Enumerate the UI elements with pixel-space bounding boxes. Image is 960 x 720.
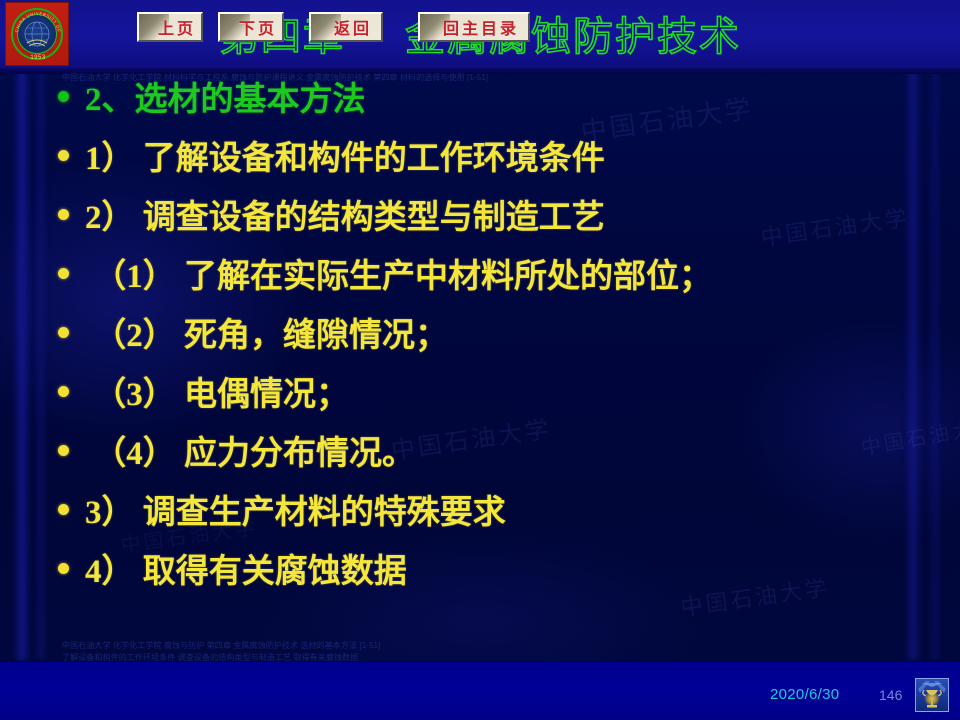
list-item-label: 4） 取得有关腐蚀数据 bbox=[85, 556, 407, 589]
list-item: （2） 死角，缝隙情况； bbox=[0, 320, 960, 379]
back-button-label: 返回 bbox=[320, 15, 372, 39]
list-item-label: （1） 了解在实际生产中材料所处的部位； bbox=[85, 261, 712, 294]
bullet-icon bbox=[58, 150, 69, 161]
trophy-icon bbox=[916, 679, 948, 711]
university-logo: CHINA UNIVERSITY OF PETROLEUM 1953 bbox=[5, 2, 69, 66]
bullet-icon bbox=[58, 504, 69, 515]
slide-date: 2020/6/30 bbox=[770, 686, 839, 703]
list-item-label: （2） 死角，缝隙情况； bbox=[85, 320, 448, 353]
list-item: 3） 调查生产材料的特殊要求 bbox=[0, 497, 960, 556]
prev-page-button[interactable]: 上页 bbox=[137, 12, 203, 42]
list-item: 2） 调查设备的结构类型与制造工艺 bbox=[0, 202, 960, 261]
list-item: 2、选材的基本方法 bbox=[0, 84, 960, 143]
trophy-emblem-thumbnail bbox=[915, 678, 949, 712]
list-item: （1） 了解在实际生产中材料所处的部位； bbox=[0, 261, 960, 320]
bullet-list: 2、选材的基本方法 1） 了解设备和构件的工作环境条件 2） 调查设备的结构类型… bbox=[0, 84, 960, 615]
list-item-label: 1） 了解设备和构件的工作环境条件 bbox=[85, 143, 605, 176]
next-page-button[interactable]: 下页 bbox=[218, 12, 284, 42]
list-item-label: （3） 电偶情况； bbox=[85, 379, 349, 412]
bullet-icon bbox=[58, 563, 69, 574]
bullet-icon bbox=[58, 91, 69, 102]
logo-year: 1953 bbox=[6, 55, 70, 61]
list-item-label: 2、选材的基本方法 bbox=[85, 84, 366, 117]
bullet-icon bbox=[58, 327, 69, 338]
bullet-icon bbox=[58, 386, 69, 397]
list-item-label: 3） 调查生产材料的特殊要求 bbox=[85, 497, 506, 530]
bullet-icon bbox=[58, 445, 69, 456]
list-item: （4） 应力分布情况。 bbox=[0, 438, 960, 497]
back-button[interactable]: 返回 bbox=[309, 12, 383, 42]
bullet-icon bbox=[58, 268, 69, 279]
list-item: 1） 了解设备和构件的工作环境条件 bbox=[0, 143, 960, 202]
header-underline bbox=[0, 68, 960, 74]
list-item: （3） 电偶情况； bbox=[0, 379, 960, 438]
faint-footer-text: 中国石油大学 化学化工学院 腐蚀与防护 第四章 金属腐蚀防护技术 选材的基本方法… bbox=[62, 640, 902, 651]
slide-canvas: 中国石油大学 中国石油大学 中国石油大学 中国石油大学 中国石油大学 中国石油大… bbox=[0, 0, 960, 720]
svg-text:CHINA UNIVERSITY OF PETROLEUM: CHINA UNIVERSITY OF PETROLEUM bbox=[6, 3, 62, 34]
page-number: 146 bbox=[879, 687, 902, 703]
prev-page-button-label: 上页 bbox=[144, 15, 196, 39]
list-item: 4） 取得有关腐蚀数据 bbox=[0, 556, 960, 615]
main-menu-button[interactable]: 回主目录 bbox=[418, 12, 530, 42]
main-menu-button-label: 回主目录 bbox=[429, 15, 519, 39]
list-item-label: （4） 应力分布情况。 bbox=[85, 438, 415, 471]
next-page-button-label: 下页 bbox=[225, 15, 277, 39]
bullet-icon bbox=[58, 209, 69, 220]
list-item-label: 2） 调查设备的结构类型与制造工艺 bbox=[85, 202, 605, 235]
